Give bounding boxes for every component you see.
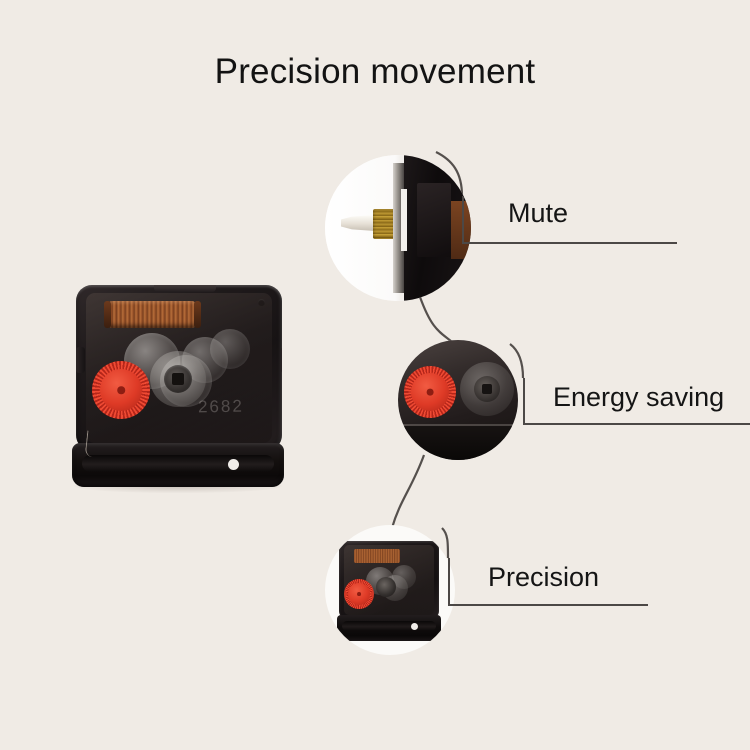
page-title: Precision movement <box>0 52 750 92</box>
mini-base-flange <box>337 615 441 641</box>
mini-housing <box>339 541 439 619</box>
shaft-slot-gap <box>401 189 407 251</box>
coil-cap-left <box>104 301 111 328</box>
coil-cap-right <box>194 301 201 328</box>
housing-lower-band <box>398 426 518 460</box>
red-gear-axle <box>427 389 434 396</box>
flange-indicator-dot <box>411 623 418 630</box>
flange-groove <box>82 455 274 472</box>
connector-mute-to-energy <box>420 297 452 342</box>
shaft-housing-step <box>417 183 451 257</box>
center-hub-core <box>482 384 492 394</box>
gear-disc <box>210 329 250 369</box>
callout-label-mute: Mute <box>508 198 568 229</box>
moulded-part-number: 2682 <box>198 397 244 418</box>
mini-housing-window <box>344 545 434 615</box>
shaft-brass-thread <box>373 209 395 239</box>
callout-label-precision: Precision <box>488 562 599 593</box>
product-image: 2682 <box>68 283 290 497</box>
infographic-canvas: Precision movement 2682 <box>0 0 750 750</box>
flange-wire <box>85 431 98 458</box>
mini-movement <box>337 541 443 643</box>
housing-side-tab-left <box>76 347 85 373</box>
product-base-flange <box>72 443 284 487</box>
copper-coil <box>354 549 400 563</box>
center-hub-inner <box>376 577 396 597</box>
housing-top-notch <box>154 285 216 292</box>
red-gear-wheel <box>404 366 456 418</box>
red-gear-axle <box>117 386 125 394</box>
red-gear-axle <box>357 592 361 596</box>
center-hub-core <box>172 373 184 385</box>
connector-energy-to-precision <box>392 455 424 528</box>
housing-window: 2682 <box>86 293 272 443</box>
flange-indicator-dot <box>228 459 239 470</box>
housing-side-tab-right <box>281 347 282 373</box>
product-housing: 2682 <box>76 285 282 451</box>
callout-rule-mute <box>462 196 677 244</box>
red-gear-wheel <box>92 361 150 419</box>
callout-detail-energy-saving <box>398 340 518 460</box>
red-gear-wheel <box>344 579 374 609</box>
copper-coil <box>108 301 196 328</box>
flange-groove <box>342 621 436 631</box>
callout-detail-precision <box>325 525 455 655</box>
callout-detail-mute <box>325 155 471 301</box>
callout-label-energy-saving: Energy saving <box>553 382 724 413</box>
